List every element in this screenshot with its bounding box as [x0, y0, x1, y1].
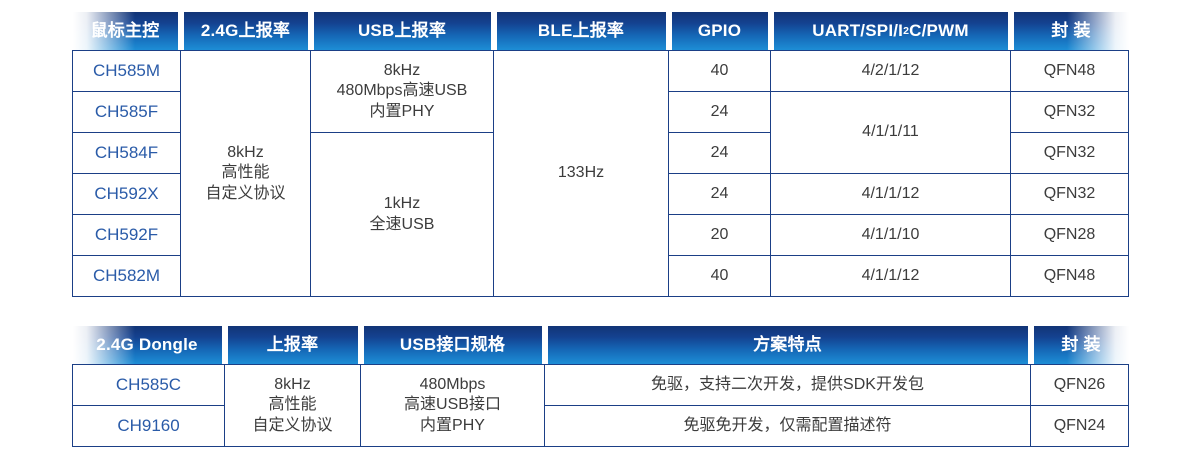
- header-cell-package: 封 装: [1031, 326, 1129, 365]
- cell-gpio: 40: [669, 256, 771, 297]
- header-label-gpio: GPIO: [672, 12, 768, 50]
- header-peripherals-post: C/PWM: [909, 20, 969, 42]
- table-row: CH585C 8kHz 高性能 自定义协议 480Mbps 高速USB接口 内置…: [73, 365, 1129, 406]
- dongle-table: 2.4G Dongle 上报率 USB接口规格 方案特点 封 装: [72, 326, 1129, 447]
- cell-chip: CH9160: [73, 406, 225, 447]
- cell-usb-spec-merged: 480Mbps 高速USB接口 内置PHY: [361, 365, 545, 447]
- cell-package: QFN28: [1011, 215, 1129, 256]
- header-label-features: 方案特点: [548, 326, 1028, 364]
- cell-report-rate-merged: 8kHz 高性能 自定义协议: [225, 365, 361, 447]
- header-label-usb-spec: USB接口规格: [364, 326, 542, 364]
- cell-chip: CH584F: [73, 133, 181, 174]
- header-label-chip: 鼠标主控: [73, 12, 178, 50]
- header-label-package: 封 装: [1034, 326, 1129, 364]
- cell-package: QFN24: [1031, 406, 1129, 447]
- header-label-peripherals: UART/SPI/I2C/PWM: [774, 12, 1008, 50]
- cell-gpio: 20: [669, 215, 771, 256]
- header-label-report-rate: 上报率: [228, 326, 358, 364]
- cell-gpio: 40: [669, 51, 771, 92]
- cell-chip: CH585M: [73, 51, 181, 92]
- mcu-comparison-table: 鼠标主控 2.4G上报率 USB上报率 BLE上报率 GPIO UART: [72, 12, 1129, 297]
- cell-peripherals: 4/1/1/10: [771, 215, 1011, 256]
- cell-usb-fullspeed-merged: 1kHz 全速USB: [311, 133, 494, 297]
- header-cell-ble-rate: BLE上报率: [494, 12, 669, 51]
- cell-feature: 免驱，支持二次开发，提供SDK开发包: [545, 365, 1031, 406]
- header-cell-chip: 鼠标主控: [73, 12, 181, 51]
- header-label-ble-rate: BLE上报率: [497, 12, 666, 50]
- header-cell-report-rate: 上报率: [225, 326, 361, 365]
- header-cell-24g-rate: 2.4G上报率: [181, 12, 311, 51]
- header-peripherals-pre: UART/SPI/I: [812, 20, 903, 42]
- header-cell-usb-rate: USB上报率: [311, 12, 494, 51]
- cell-gpio: 24: [669, 174, 771, 215]
- header-cell-features: 方案特点: [545, 326, 1031, 365]
- header-cell-package: 封 装: [1011, 12, 1129, 51]
- header-label-package: 封 装: [1014, 12, 1129, 50]
- header-label-dongle: 2.4G Dongle: [73, 326, 222, 364]
- cell-package: QFN48: [1011, 256, 1129, 297]
- cell-package: QFN48: [1011, 51, 1129, 92]
- header-label-24g-rate: 2.4G上报率: [184, 12, 308, 50]
- cell-peripherals-merged: 4/1/1/11: [771, 92, 1011, 174]
- cell-chip: CH592X: [73, 174, 181, 215]
- cell-package: QFN32: [1011, 174, 1129, 215]
- table-row: CH585M 8kHz 高性能 自定义协议 8kHz 480Mbps高速USB …: [73, 51, 1129, 92]
- cell-ble-rate-merged: 133Hz: [494, 51, 669, 297]
- header-cell-usb-spec: USB接口规格: [361, 326, 545, 365]
- cell-package: QFN32: [1011, 92, 1129, 133]
- cell-package: QFN32: [1011, 133, 1129, 174]
- dongle-table-header-row: 2.4G Dongle 上报率 USB接口规格 方案特点 封 装: [73, 326, 1129, 365]
- cell-24g-rate-merged: 8kHz 高性能 自定义协议: [181, 51, 311, 297]
- cell-chip: CH592F: [73, 215, 181, 256]
- cell-chip: CH585C: [73, 365, 225, 406]
- header-cell-peripherals: UART/SPI/I2C/PWM: [771, 12, 1011, 51]
- cell-chip: CH585F: [73, 92, 181, 133]
- spec-tables-sheet: 鼠标主控 2.4G上报率 USB上报率 BLE上报率 GPIO UART: [0, 0, 1200, 463]
- cell-peripherals: 4/1/1/12: [771, 256, 1011, 297]
- cell-chip: CH582M: [73, 256, 181, 297]
- header-cell-gpio: GPIO: [669, 12, 771, 51]
- cell-package: QFN26: [1031, 365, 1129, 406]
- header-label-usb-rate: USB上报率: [314, 12, 491, 50]
- cell-feature: 免驱免开发，仅需配置描述符: [545, 406, 1031, 447]
- header-cell-dongle: 2.4G Dongle: [73, 326, 225, 365]
- cell-gpio: 24: [669, 133, 771, 174]
- cell-gpio: 24: [669, 92, 771, 133]
- cell-peripherals: 4/2/1/12: [771, 51, 1011, 92]
- cell-usb-highspeed-merged: 8kHz 480Mbps高速USB 内置PHY: [311, 51, 494, 133]
- cell-peripherals: 4/1/1/12: [771, 174, 1011, 215]
- mcu-table-header-row: 鼠标主控 2.4G上报率 USB上报率 BLE上报率 GPIO UART: [73, 12, 1129, 51]
